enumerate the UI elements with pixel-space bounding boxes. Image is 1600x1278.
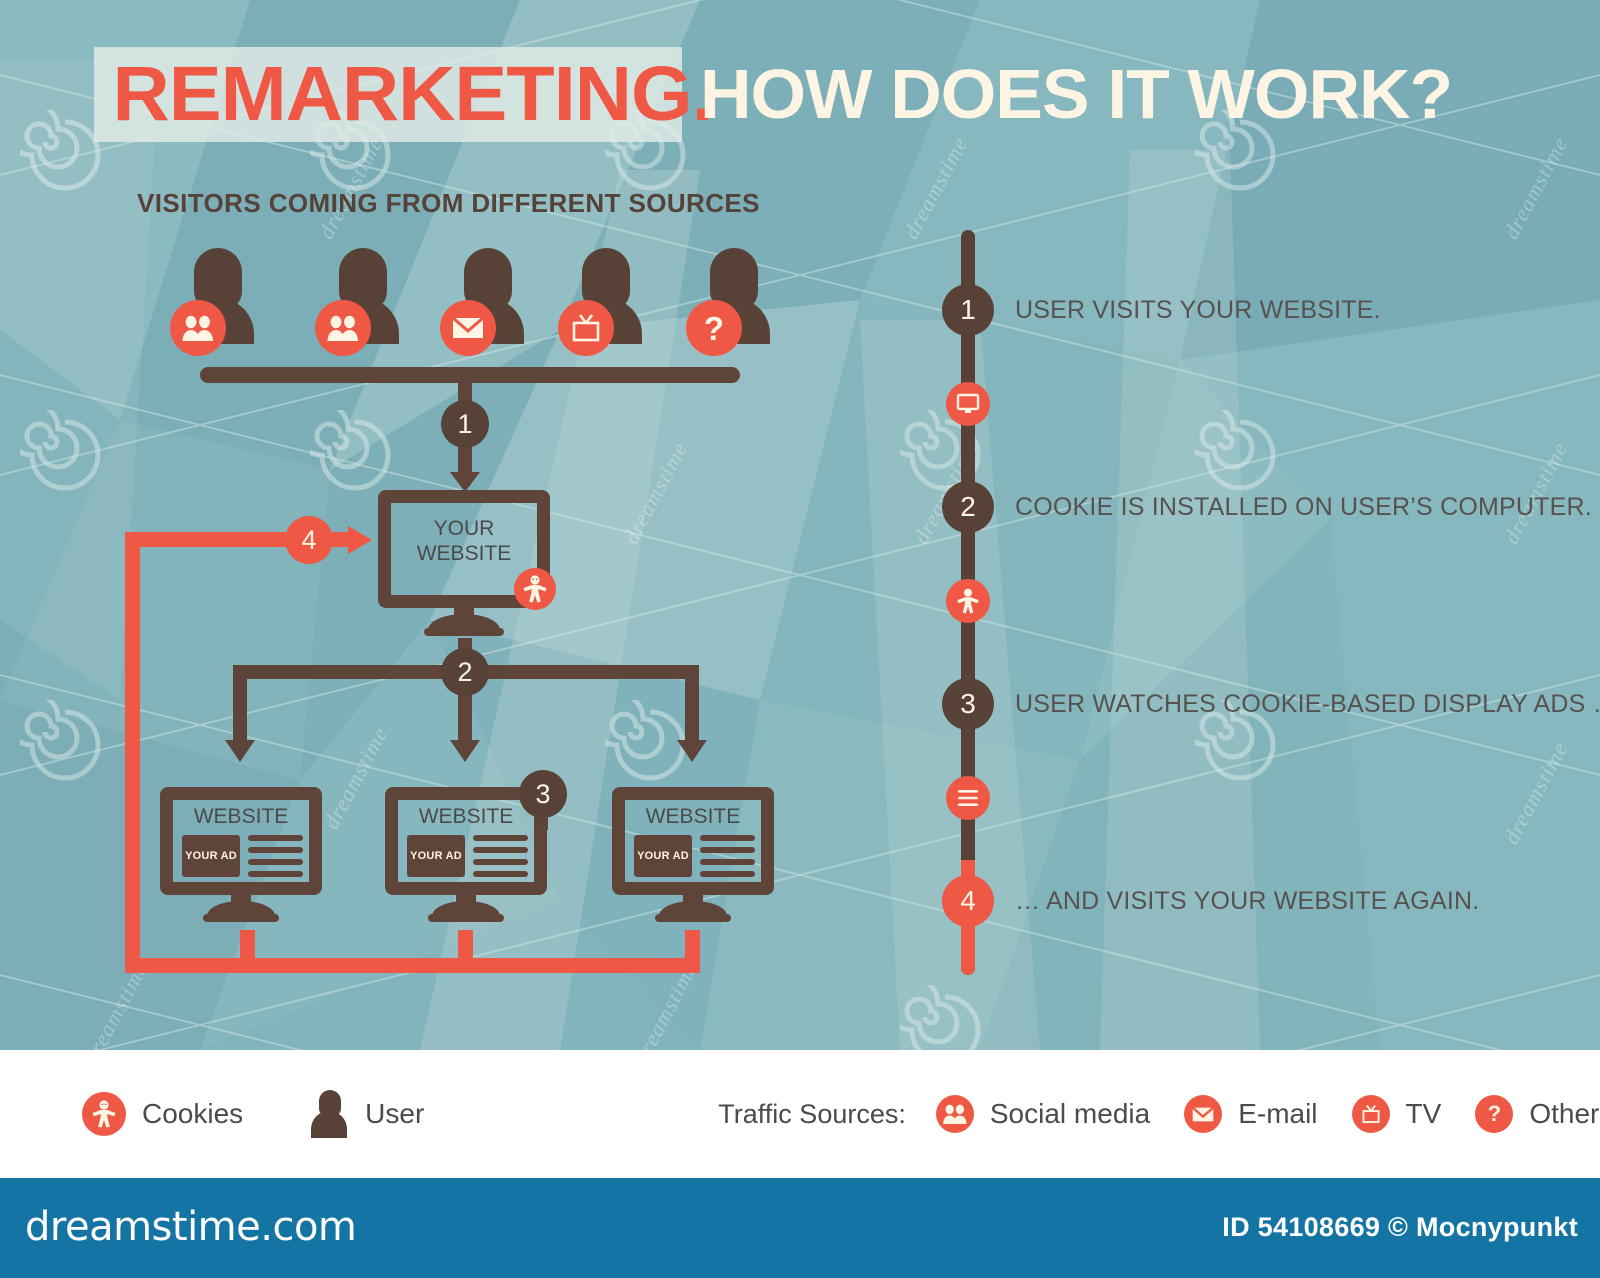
timeline-step-3-text: USER WATCHES COOKIE-BASED DISPLAY ADS … <box>1015 690 1600 719</box>
monitor-icon <box>946 382 990 426</box>
image-credit: ID 54108669 © Mocnypunkt <box>1222 1212 1578 1243</box>
monitor-base <box>203 914 279 922</box>
legend-item-email: E-mail <box>1184 1095 1317 1133</box>
timeline-step-1-text: USER VISITS YOUR WEBSITE. <box>1015 296 1381 325</box>
legend-item-social-media: Social media <box>936 1095 1150 1133</box>
legend-label-user: User <box>365 1098 424 1130</box>
diagram-node-2: 2 <box>441 648 489 696</box>
social-media-icon <box>936 1095 974 1133</box>
question-mark-icon: ? <box>1475 1095 1513 1133</box>
legend-bar: Cookies User Traffic Sources: Social med… <box>0 1050 1600 1178</box>
content-lines <box>700 835 755 883</box>
legend-item-tv: TV <box>1352 1095 1442 1133</box>
legend-item-cookies: Cookies <box>82 1092 243 1136</box>
email-icon <box>1184 1095 1222 1133</box>
timeline-step-4-text: … AND VISITS YOUR WEBSITE AGAIN. <box>1015 887 1479 916</box>
legend-label-other: Other <box>1529 1098 1599 1130</box>
website-title: WEBSITE <box>385 805 547 829</box>
cookie-gingerbread-icon <box>514 568 556 610</box>
dreamstime-logo: dreamstime.com <box>25 1204 356 1250</box>
user-silhouette-icon <box>309 1090 349 1138</box>
timeline-step-4-number: 4 <box>942 875 994 927</box>
display-ads-lines-icon <box>946 776 990 820</box>
timeline-step-3-number: 3 <box>942 678 994 730</box>
website-title: WEBSITE <box>612 805 774 829</box>
ad-placeholder: YOUR AD <box>634 835 692 877</box>
diagram-node-3: 3 <box>519 770 567 818</box>
legend-item-user: User <box>309 1090 424 1138</box>
cookie-gingerbread-icon <box>946 579 990 623</box>
stock-footer-bar: dreamstime.com ID 54108669 © Mocnypunkt <box>0 1178 1600 1278</box>
legend-label-traffic-sources: Traffic Sources: <box>718 1099 906 1130</box>
infographic-root: dreamstime dreamstime dreamstime dreamst… <box>0 0 1600 1278</box>
your-website-label: YOUR WEBSITE <box>378 516 550 566</box>
diagram-node-4: 4 <box>285 516 333 564</box>
legend-label-tv: TV <box>1406 1098 1442 1130</box>
monitor-base <box>655 914 731 922</box>
monitor-base <box>424 628 504 636</box>
legend-item-other: ? Other <box>1475 1095 1599 1133</box>
content-lines <box>248 835 303 883</box>
cookie-gingerbread-icon <box>82 1092 126 1136</box>
ad-placeholder: YOUR AD <box>407 835 465 877</box>
timeline-step-2-number: 2 <box>942 481 994 533</box>
tv-icon <box>1352 1095 1390 1133</box>
timeline-step-1-number: 1 <box>942 284 994 336</box>
steps-timeline: 1 USER VISITS YOUR WEBSITE. 2 COOKIE IS … <box>920 230 1560 975</box>
monitor-base <box>428 914 504 922</box>
website-title: WEBSITE <box>160 805 322 829</box>
ad-placeholder: YOUR AD <box>182 835 240 877</box>
content-lines <box>473 835 528 883</box>
legend-label-cookies: Cookies <box>142 1098 243 1130</box>
legend-label-social-media: Social media <box>990 1098 1150 1130</box>
diagram-node-1: 1 <box>441 400 489 448</box>
timeline-step-2-text: COOKIE IS INSTALLED ON USER’S COMPUTER. <box>1015 493 1592 522</box>
legend-label-email: E-mail <box>1238 1098 1317 1130</box>
